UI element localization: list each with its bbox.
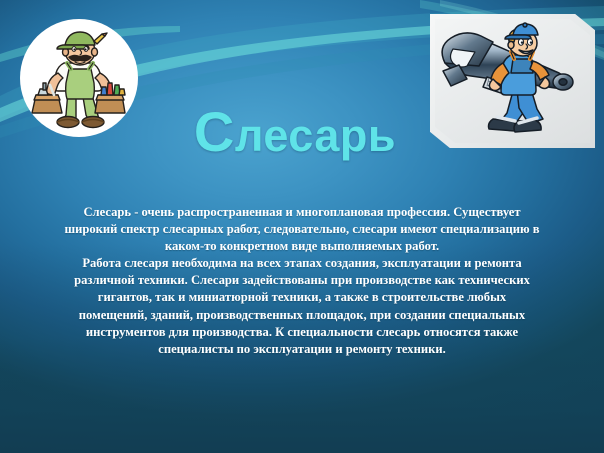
body-paragraph-2: Работа слесаря необходима на всех этапах… [64, 255, 540, 358]
frame-inner [435, 19, 590, 143]
handyman-with-toolboxes-illustration [20, 19, 138, 137]
page-title: Слесарь [150, 104, 440, 160]
body-paragraph-1: Слесарь - очень распространенная и много… [64, 204, 540, 255]
body-text-block: Слесарь - очень распространенная и много… [64, 204, 540, 358]
mechanic-with-wrench-illustration [430, 14, 595, 148]
presentation-slide: Слесарь Слесарь - очень распространенная… [0, 0, 604, 453]
title-initial: С [194, 100, 235, 163]
title-rest: лесарь [235, 110, 396, 161]
